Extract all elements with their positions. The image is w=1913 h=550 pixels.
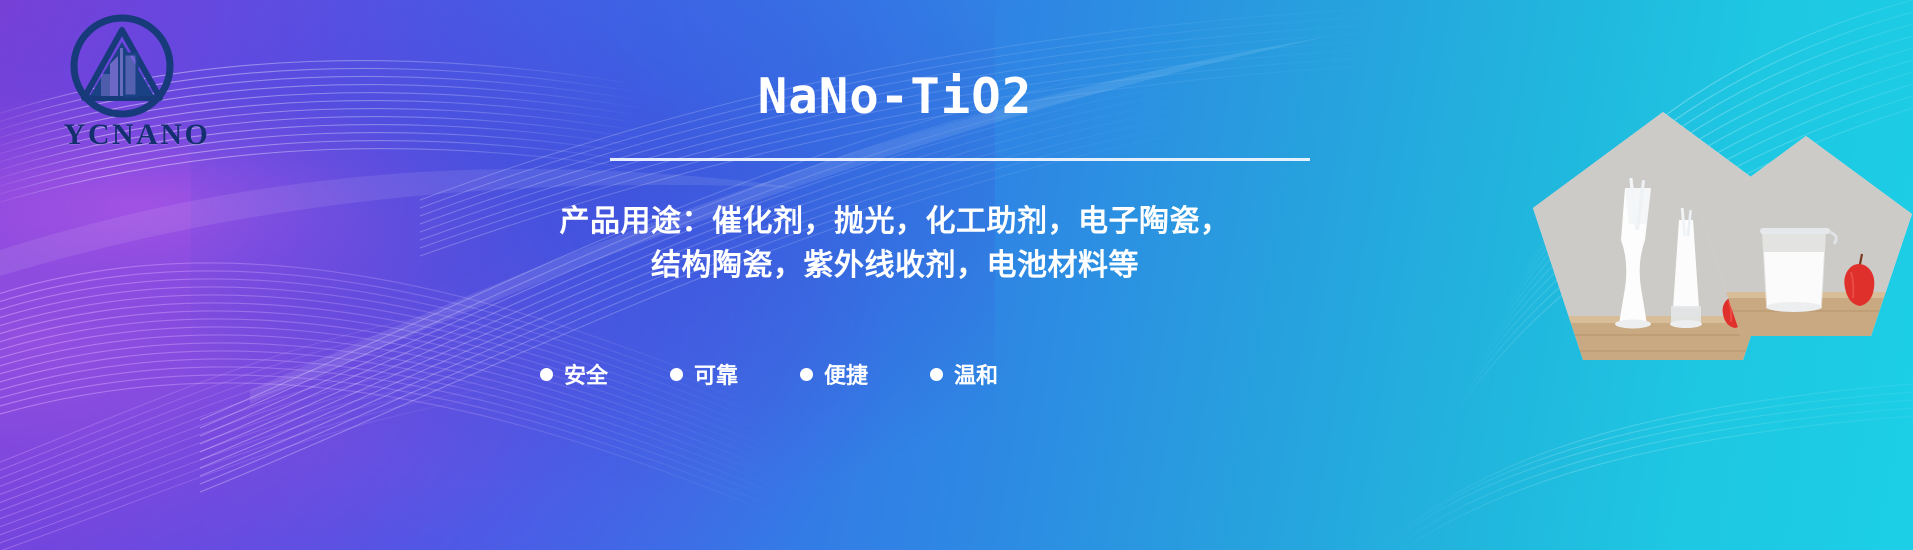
- product-usage-text: 产品用途：催化剂，抛光，化工助剂，电子陶瓷， 结构陶瓷，紫外线收剂，电池材料等: [430, 200, 1360, 287]
- ycnano-logo-icon: [68, 12, 176, 120]
- feature-item-convenient: 便捷: [800, 358, 868, 390]
- feature-label: 安全: [564, 358, 608, 390]
- bullet-dot-icon: [670, 368, 683, 381]
- headline-block: NaNo-TiO2 产品用途：催化剂，抛光，化工助剂，电子陶瓷， 结构陶瓷，紫外…: [470, 0, 1320, 550]
- bullet-dot-icon: [540, 368, 553, 381]
- feature-item-mild: 温和: [930, 358, 998, 390]
- feature-label: 便捷: [824, 358, 868, 390]
- bullet-dot-icon: [800, 368, 813, 381]
- usage-line-2: 结构陶瓷，紫外线收剂，电池材料等: [430, 244, 1360, 288]
- usage-line-1: 产品用途：催化剂，抛光，化工助剂，电子陶瓷，: [430, 200, 1360, 244]
- brand-logo[interactable]: YCNANO: [44, 12, 230, 162]
- page-title: NaNo-TiO2: [470, 72, 1320, 121]
- feature-item-reliable: 可靠: [670, 358, 738, 390]
- feature-list: 安全 可靠 便捷 温和: [490, 358, 1320, 390]
- product-banner: YCNANO NaNo-TiO2 产品用途：催化剂，抛光，化工助剂，电子陶瓷， …: [0, 0, 1913, 550]
- feature-item-safe: 安全: [540, 358, 608, 390]
- feature-label: 可靠: [694, 358, 738, 390]
- title-divider: [610, 158, 1310, 161]
- brand-name: YCNANO: [44, 118, 230, 152]
- bullet-dot-icon: [930, 368, 943, 381]
- feature-label: 温和: [954, 358, 998, 390]
